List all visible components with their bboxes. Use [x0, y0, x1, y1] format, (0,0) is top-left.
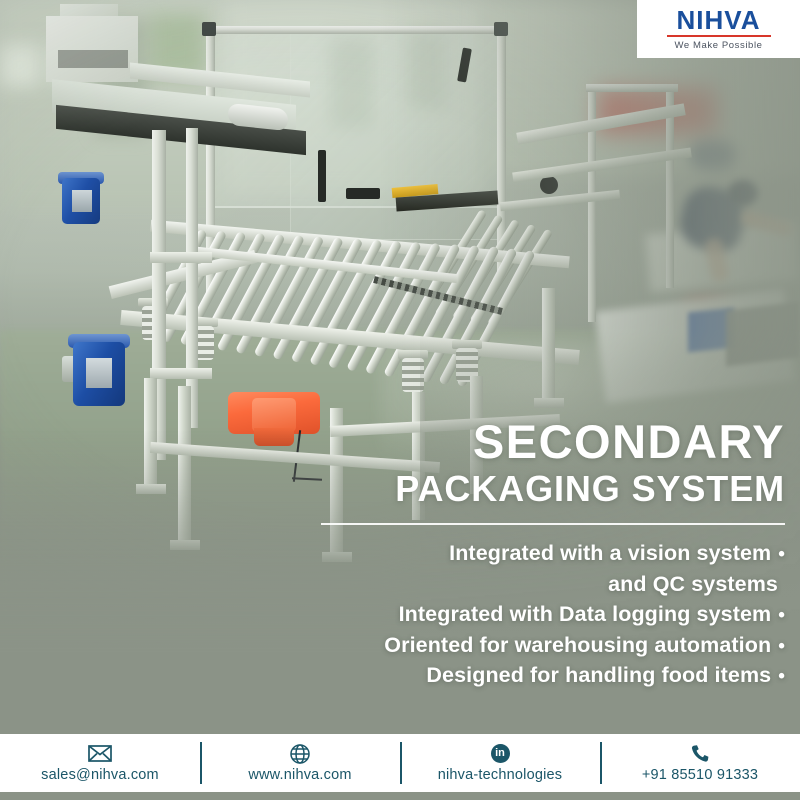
contact-phone[interactable]: +91 85510 91333 [600, 734, 800, 792]
contact-website[interactable]: www.nihva.com [200, 734, 400, 792]
feature-text: Designed for handling food items [426, 663, 771, 687]
feature-text: and QC systems [608, 572, 778, 596]
feature-list: Integrated with a vision system• and QC … [315, 538, 785, 690]
envelope-icon [88, 744, 112, 764]
feature-item: Integrated with a vision system• [315, 538, 785, 569]
bullet-dot-icon: • [778, 603, 785, 630]
headline-divider [321, 523, 785, 525]
feature-text: Integrated with a vision system [449, 541, 771, 565]
headline-block: SECONDARY PACKAGING SYSTEM Integrated wi… [315, 418, 785, 691]
bullet-dot-icon: • [778, 664, 785, 691]
feature-item: Integrated with Data logging system• [315, 599, 785, 630]
brand-tagline: We Make Possible [674, 40, 762, 51]
feature-item: Designed for handling food items• [315, 660, 785, 691]
headline-line-1: SECONDARY [315, 418, 785, 466]
bullet-dot-icon: • [778, 542, 785, 569]
feature-item: and QC systems [315, 569, 785, 599]
phone-icon [690, 744, 710, 764]
brand-logo-underline [667, 35, 771, 38]
linkedin-badge-text: in [491, 744, 510, 763]
headline-line-2: PACKAGING SYSTEM [315, 468, 785, 509]
contact-website-label: www.nihva.com [248, 767, 351, 783]
feature-text: Oriented for warehousing automation [384, 633, 771, 657]
feature-item: Oriented for warehousing automation• [315, 630, 785, 661]
contact-footer: sales@nihva.com www.nihva.com in nihva-t… [0, 734, 800, 792]
marketing-poster: NIHVA We Make Possible SECONDARY PACKAGI… [0, 0, 800, 800]
bullet-dot-icon: • [778, 634, 785, 661]
brand-logo[interactable]: NIHVA We Make Possible [637, 0, 800, 58]
contact-phone-label: +91 85510 91333 [642, 767, 758, 783]
brand-name: NIHVA [677, 7, 761, 33]
contact-linkedin-label: nihva-technologies [438, 767, 563, 783]
contact-linkedin[interactable]: in nihva-technologies [400, 734, 600, 792]
linkedin-icon: in [491, 744, 510, 764]
feature-text: Integrated with Data logging system [399, 602, 772, 626]
contact-email[interactable]: sales@nihva.com [0, 734, 200, 792]
globe-icon [290, 744, 310, 764]
contact-email-label: sales@nihva.com [41, 767, 159, 783]
footer-bottom-strip [0, 792, 800, 800]
